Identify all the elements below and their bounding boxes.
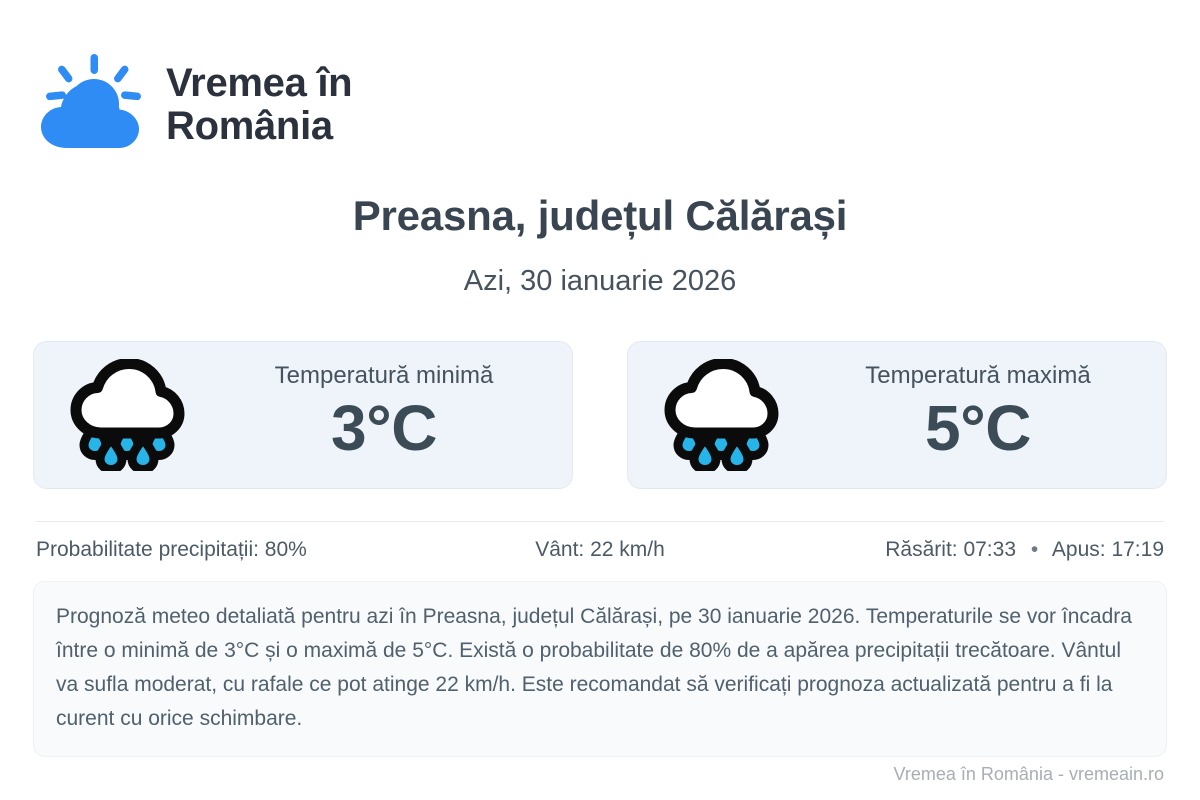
max-temperature-card: Temperatură maximă 5°C	[627, 341, 1167, 489]
page-title: Preasna, județul Călărași	[0, 192, 1200, 240]
sun-times-stat: Răsărit: 07:33 • Apus: 17:19	[788, 538, 1164, 562]
min-temperature-body: Temperatură minimă 3°C	[210, 362, 558, 467]
sunset-time: Apus: 17:19	[1052, 538, 1164, 561]
sun-behind-cloud-icon	[36, 52, 148, 158]
max-temperature-body: Temperatură maximă 5°C	[804, 362, 1152, 467]
temperature-cards: Temperatură minimă 3°C Temper	[33, 341, 1167, 489]
weather-page: Vremea în România Preasna, județul Călăr…	[0, 0, 1200, 800]
stats-row: Probabilitate precipitații: 80% Vânt: 22…	[36, 538, 1164, 562]
max-temperature-label: Temperatură maximă	[865, 362, 1090, 391]
stat-separator: •	[1031, 538, 1038, 561]
rain-cloud-icon	[662, 359, 780, 471]
min-temperature-card: Temperatură minimă 3°C	[33, 341, 573, 489]
brand-name: Vremea în România	[166, 62, 352, 148]
max-temperature-value: 5°C	[925, 393, 1031, 463]
precipitation-stat: Probabilitate precipitații: 80%	[36, 538, 412, 562]
date-subtitle: Azi, 30 ianuarie 2026	[0, 265, 1200, 298]
sunrise-time: Răsărit: 07:33	[885, 538, 1016, 561]
min-temperature-label: Temperatură minimă	[275, 362, 494, 391]
stats-divider	[36, 521, 1164, 522]
forecast-description-text: Prognoză meteo detaliată pentru azi în P…	[56, 600, 1144, 736]
min-temperature-value: 3°C	[331, 393, 437, 463]
footer-credit: Vremea în România - vremeain.ro	[894, 764, 1164, 785]
forecast-description-panel: Prognoză meteo detaliată pentru azi în P…	[33, 581, 1167, 757]
wind-stat: Vânt: 22 km/h	[412, 538, 788, 562]
brand-logo[interactable]: Vremea în România	[36, 52, 352, 158]
rain-cloud-icon	[68, 359, 186, 471]
